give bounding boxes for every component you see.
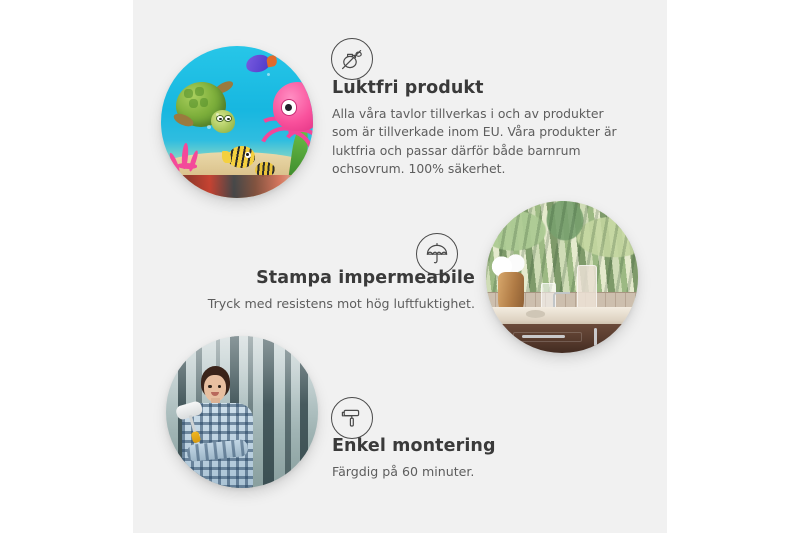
feature-image-waterproof	[486, 201, 638, 353]
feature-image-odor-free	[161, 46, 313, 198]
feature-title: Luktfri produkt	[332, 78, 622, 99]
dispenser-bottle	[577, 265, 597, 313]
feature-text-odor-free: Luktfri produkt Alla våra tavlor tillver…	[332, 78, 622, 178]
promo-banner: Luktfri produkt Alla våra tavlor tillver…	[0, 0, 800, 533]
feature-image-easy-installation	[166, 336, 318, 488]
turtle	[175, 79, 245, 140]
feature-text-waterproof: Stampa impermeabile Tryck med resistens …	[205, 268, 475, 313]
bathroom-photo	[486, 201, 638, 353]
countertop	[486, 307, 638, 325]
woman	[175, 366, 260, 488]
wooden-vanity-cabinet	[498, 324, 638, 353]
striped-fish	[228, 146, 255, 167]
woman-with-roller-photo	[166, 336, 318, 488]
feature-title: Stampa impermeabile	[205, 268, 475, 289]
feature-body: Färgdig på 60 minuter.	[332, 463, 592, 481]
feature-title: Enkel montering	[332, 436, 592, 457]
paint-roller-icon	[331, 397, 373, 439]
soap-dish	[526, 310, 546, 318]
underwater-illustration	[161, 46, 313, 198]
no-odor-perfume-icon	[331, 38, 373, 80]
photo-bottom-strip	[161, 175, 313, 198]
feature-text-easy-installation: Enkel montering Färgdig på 60 minuter.	[332, 436, 592, 481]
feature-body: Alla våra tavlor tillverkas i och av pro…	[332, 105, 622, 178]
feature-body: Tryck med resistens mot hög luftfuktighe…	[205, 295, 475, 313]
octopus	[255, 82, 313, 161]
